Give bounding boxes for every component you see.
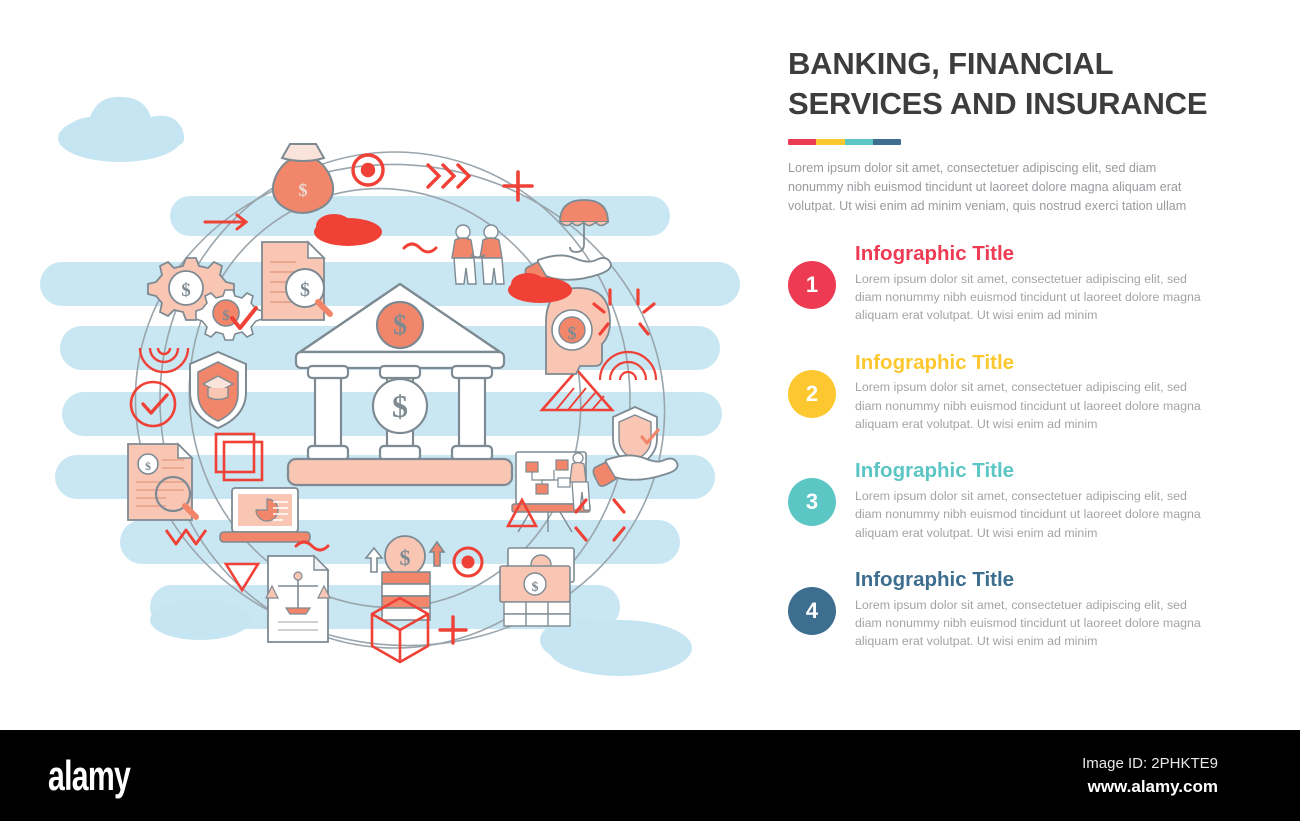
item-body: Infographic Title Lorem ipsum dolor sit … [855,458,1215,542]
legal-scales-document-icon [266,556,330,642]
cloud-icon [150,600,250,640]
item-title-4: Infographic Title [855,567,1215,593]
intro-paragraph: Lorem ipsum dolor sit amet, consectetuer… [788,159,1208,216]
svg-text:$: $ [568,323,577,343]
target-icon [353,155,383,185]
item-title-1: Infographic Title [855,241,1215,267]
item-text-4: Lorem ipsum dolor sit amet, consectetuer… [855,596,1215,651]
svg-text:$: $ [300,279,310,301]
item-text-3: Lorem ipsum dolor sit amet, consectetuer… [855,487,1215,542]
cloud-icon [540,618,692,676]
banknotes-icon: $ [500,548,574,626]
divider-segment-4 [873,139,901,145]
item-body: Infographic Title Lorem ipsum dolor sit … [855,350,1215,434]
item-text-1: Lorem ipsum dolor sit amet, consectetuer… [855,270,1215,325]
list-item: 2 Infographic Title Lorem ipsum dolor si… [788,350,1248,434]
svg-text:$: $ [222,308,230,324]
image-id-label: Image ID: 2PHKTE9 [1082,755,1218,772]
item-body: Infographic Title Lorem ipsum dolor sit … [855,241,1215,325]
item-number-badge-4: 4 [788,587,836,635]
alamy-url: www.alamy.com [1088,777,1218,797]
item-title-2: Infographic Title [855,350,1215,376]
item-body: Infographic Title Lorem ipsum dolor sit … [855,567,1215,651]
alamy-logo: alamy [48,752,130,800]
item-number-badge-1: 1 [788,261,836,309]
svg-text:$: $ [299,180,308,200]
svg-text:$: $ [145,459,151,473]
item-text-2: Lorem ipsum dolor sit amet, consectetuer… [855,378,1215,433]
chevrons-right-icon [428,165,469,187]
color-divider [788,139,901,145]
svg-text:$: $ [392,388,408,424]
item-number-badge-2: 2 [788,370,836,418]
laptop-pie-chart-icon [220,488,310,542]
content-panel: BANKING, FINANCIAL SERVICES AND INSURANC… [788,44,1248,651]
page-title: BANKING, FINANCIAL SERVICES AND INSURANC… [788,44,1248,123]
list-item: 3 Infographic Title Lorem ipsum dolor si… [788,458,1248,542]
document-magnifier-dollar-icon: $ [262,242,330,320]
svg-text:$: $ [181,280,191,301]
item-number-badge-3: 3 [788,478,836,526]
cloud-icon [58,97,184,162]
money-bag-icon: $ [273,144,333,213]
bfsi-illustration: $ $ [0,0,760,730]
svg-text:$: $ [532,580,539,595]
infographic-page: $ $ [0,0,1300,821]
list-item: 4 Infographic Title Lorem ipsum dolor si… [788,567,1248,651]
divider-segment-2 [816,139,844,145]
divider-segment-1 [788,139,816,145]
svg-text:$: $ [393,310,407,341]
list-item: 1 Infographic Title Lorem ipsum dolor si… [788,241,1248,325]
invoice-magnifier-icon: $ [128,444,196,520]
item-title-3: Infographic Title [855,458,1215,484]
wave-icon [404,244,436,252]
divider-segment-3 [845,139,873,145]
svg-text:$: $ [400,545,411,570]
watermark-bar: alamy Image ID: 2PHKTE9 www.alamy.com [0,730,1300,821]
